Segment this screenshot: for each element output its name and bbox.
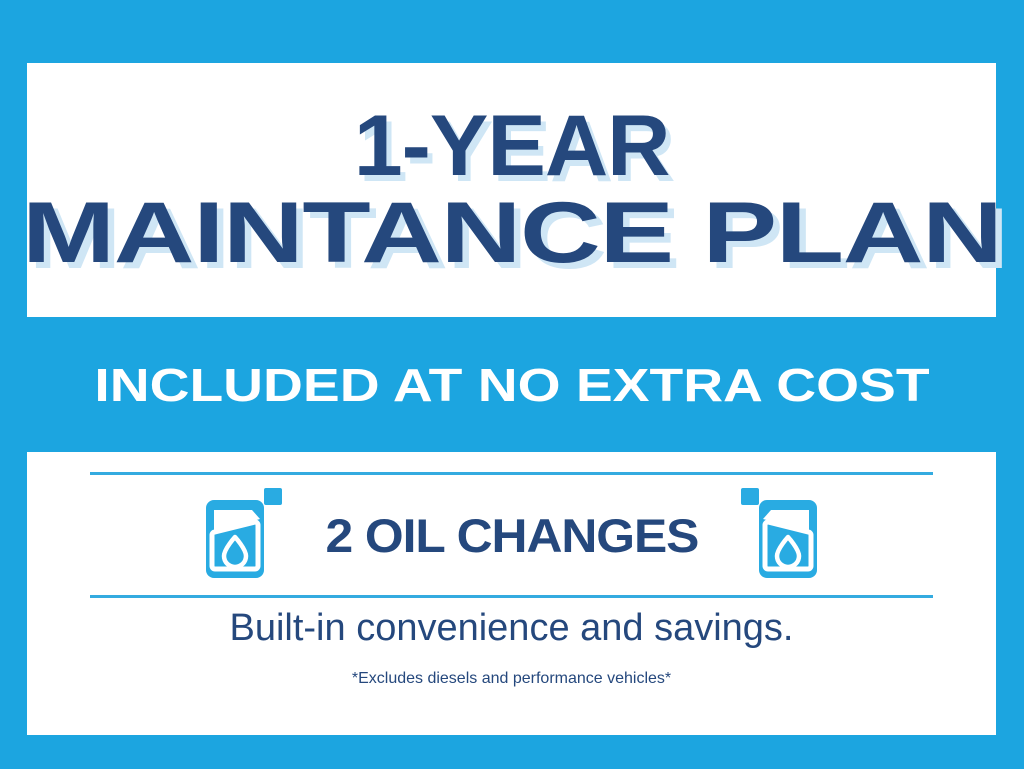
offer-label: 2 OIL CHANGES <box>325 508 698 563</box>
offer-panel: 2 OIL CHANGES Built-in convenience and s… <box>27 452 996 735</box>
promo-poster: 1-YEAR MAINTANCE PLAN INCLUDED AT NO EXT… <box>0 0 1024 769</box>
oil-can-icon <box>202 486 286 585</box>
subtitle-text: INCLUDED AT NO EXTRA COST <box>94 358 929 412</box>
headline-line-1: 1-YEAR <box>354 107 670 186</box>
divider-bottom <box>90 595 933 598</box>
oil-can-icon <box>737 486 821 585</box>
offer-row: 2 OIL CHANGES <box>90 475 933 595</box>
fineprint-text: *Excludes diesels and performance vehicl… <box>27 670 996 688</box>
tagline-text: Built-in convenience and savings. <box>27 607 996 650</box>
headline-panel: 1-YEAR MAINTANCE PLAN <box>27 63 996 317</box>
subtitle-band: INCLUDED AT NO EXTRA COST <box>0 317 1024 452</box>
headline-line-2: MAINTANCE PLAN <box>22 194 1002 273</box>
